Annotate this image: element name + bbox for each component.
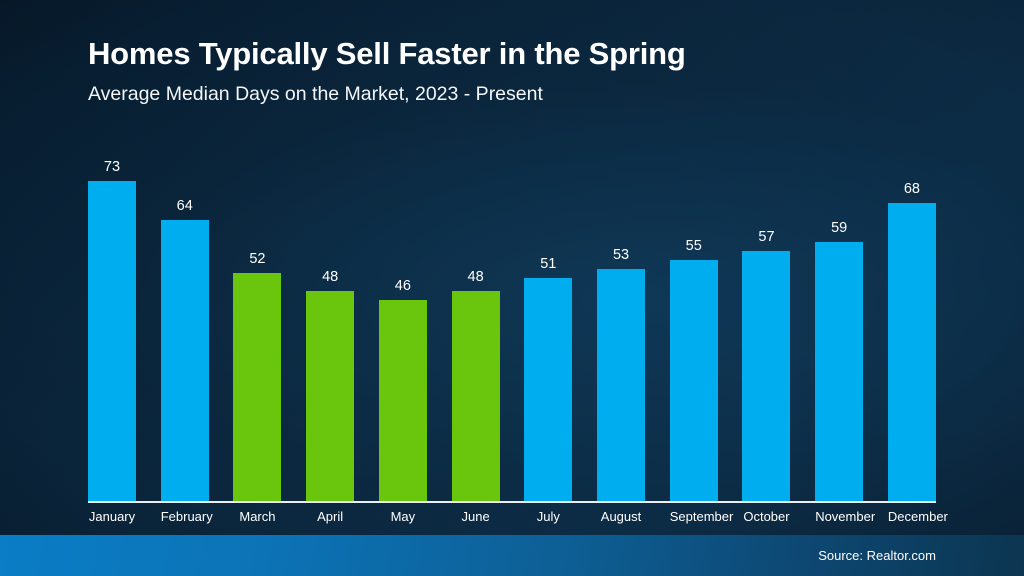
- bar-chart-plot-area: 736452484648515355575968: [88, 150, 936, 502]
- bar: [233, 273, 281, 502]
- bar-value-label: 51: [540, 256, 556, 272]
- page-subtitle: Average Median Days on the Market, 2023 …: [88, 81, 948, 107]
- source-credit: Source: Realtor.com: [818, 548, 936, 564]
- x-axis-label: November: [815, 508, 863, 526]
- x-axis-label: January: [88, 508, 136, 526]
- bar-value-label: 53: [613, 247, 629, 263]
- bar: [670, 260, 718, 502]
- x-axis-label: March: [233, 508, 281, 526]
- x-axis-line: [88, 501, 936, 503]
- bar: [452, 291, 500, 502]
- x-axis-tick-labels: JanuaryFebruaryMarchAprilMayJuneJulyAugu…: [88, 508, 936, 526]
- bar: [888, 203, 936, 502]
- bar-slot: 64: [161, 150, 209, 502]
- x-axis-label: July: [524, 508, 572, 526]
- x-axis-label: August: [597, 508, 645, 526]
- bar: [742, 251, 790, 502]
- bar-slot: 51: [524, 150, 572, 502]
- bar-value-label: 48: [468, 269, 484, 285]
- bar-slot: 68: [888, 150, 936, 502]
- bar-value-label: 57: [758, 229, 774, 245]
- bar-slot: 73: [88, 150, 136, 502]
- x-axis-label: June: [452, 508, 500, 526]
- bar: [379, 300, 427, 502]
- x-axis-label: February: [161, 508, 209, 526]
- bar-value-label: 52: [249, 251, 265, 267]
- bar: [88, 181, 136, 502]
- page-title: Homes Typically Sell Faster in the Sprin…: [88, 34, 948, 74]
- chart-header: Homes Typically Sell Faster in the Sprin…: [88, 34, 948, 107]
- bar-value-label: 73: [104, 159, 120, 175]
- x-axis-label: April: [306, 508, 354, 526]
- bar-value-label: 64: [177, 198, 193, 214]
- bar-series: 736452484648515355575968: [88, 150, 936, 502]
- bar-slot: 48: [452, 150, 500, 502]
- bar-slot: 46: [379, 150, 427, 502]
- slide-canvas: Homes Typically Sell Faster in the Sprin…: [0, 0, 1024, 576]
- x-axis-label: December: [888, 508, 936, 526]
- bar: [597, 269, 645, 502]
- bar-slot: 52: [233, 150, 281, 502]
- bar-value-label: 68: [904, 181, 920, 197]
- bar: [306, 291, 354, 502]
- x-axis-label: May: [379, 508, 427, 526]
- bar-value-label: 48: [322, 269, 338, 285]
- bar: [815, 242, 863, 502]
- bar: [524, 278, 572, 502]
- x-axis-label: October: [742, 508, 790, 526]
- bar: [161, 220, 209, 502]
- bar-slot: 53: [597, 150, 645, 502]
- bar-slot: 55: [670, 150, 718, 502]
- bar-value-label: 59: [831, 220, 847, 236]
- bar-slot: 59: [815, 150, 863, 502]
- bar-slot: 57: [742, 150, 790, 502]
- bar-value-label: 46: [395, 278, 411, 294]
- bar-slot: 48: [306, 150, 354, 502]
- bar-value-label: 55: [686, 238, 702, 254]
- x-axis-label: September: [670, 508, 718, 526]
